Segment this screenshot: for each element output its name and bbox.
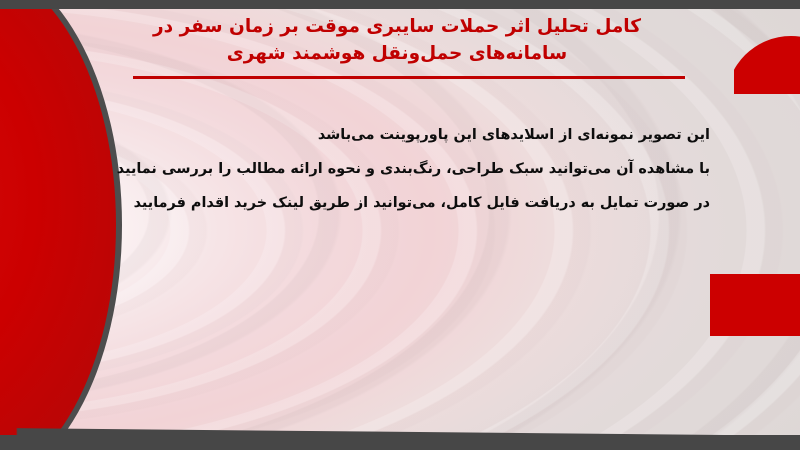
frame-top-bar <box>0 0 800 9</box>
red-corner-wedge-bottom-right <box>710 274 800 336</box>
slide-body: این تصویر نمونه‌ای از اسلایدهای این پاور… <box>90 119 710 221</box>
frame-bottom-bar <box>0 435 800 450</box>
red-corner-wedge-top-right <box>734 6 800 94</box>
presentation-slide: کامل تحلیل اثر حملات سایبری موقت بر زمان… <box>0 0 800 450</box>
title-underline-rule <box>133 76 685 79</box>
body-line-3: در صورت تمایل به دریافت فایل کامل، می‌تو… <box>90 187 710 221</box>
slide-title: کامل تحلیل اثر حملات سایبری موقت بر زمان… <box>112 13 682 68</box>
body-line-2: با مشاهده آن می‌توانید سبک طراحی، رنگ‌بن… <box>90 153 710 187</box>
body-line-1: این تصویر نمونه‌ای از اسلایدهای این پاور… <box>90 119 710 153</box>
